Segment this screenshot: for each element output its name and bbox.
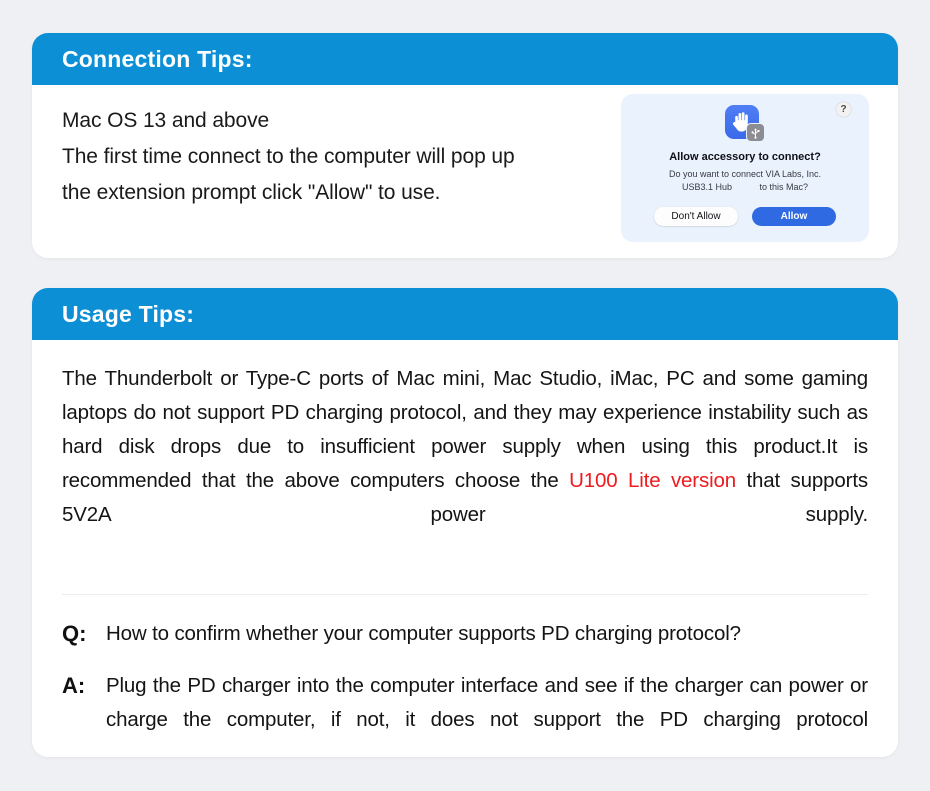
usage-tips-paragraph: The Thunderbolt or Type-C ports of Mac m… [62, 362, 868, 566]
dont-allow-button[interactable]: Don't Allow [654, 207, 738, 226]
dialog-icon-group [723, 105, 767, 145]
dialog-button-row: Don't Allow Allow [621, 207, 869, 226]
macos-permission-dialog-image: ? [621, 94, 869, 242]
faq-answer-row: A: Plug the PD charger into the computer… [62, 669, 868, 757]
usb-icon [746, 123, 765, 142]
usage-tips-card: Usage Tips: The Thunderbolt or Type-C po… [32, 288, 898, 757]
page-root: Connection Tips: Mac OS 13 and above The… [0, 0, 930, 791]
faq-question-row: Q: How to confirm whether your computer … [62, 617, 868, 651]
connection-tips-card: Connection Tips: Mac OS 13 and above The… [32, 33, 898, 258]
connection-tips-text: Mac OS 13 and above The first time conne… [62, 103, 622, 211]
dialog-subtitle-line-1: Do you want to connect VIA Labs, Inc. [669, 169, 821, 179]
connection-tips-line-1: Mac OS 13 and above [62, 103, 622, 139]
help-icon: ? [836, 102, 851, 117]
answer-text: Plug the PD charger into the computer in… [106, 669, 868, 757]
connection-tips-line-2: The first time connect to the computer w… [62, 139, 622, 175]
connection-tips-line-3: the extension prompt click "Allow" to us… [62, 175, 622, 211]
connection-tips-header: Connection Tips: [32, 33, 898, 85]
u100-lite-version-highlight: U100 Lite version [569, 469, 736, 492]
answer-label: A: [62, 669, 106, 703]
dialog-title: Allow accessory to connect? [621, 151, 869, 163]
question-text: How to confirm whether your computer sup… [106, 617, 868, 651]
usage-tips-title: Usage Tips: [62, 301, 194, 328]
usage-tips-header: Usage Tips: [32, 288, 898, 340]
question-label: Q: [62, 617, 106, 651]
dialog-subtitle-line-2: USB3.1 Hub to this Mac? [621, 181, 869, 194]
allow-button[interactable]: Allow [752, 207, 836, 226]
faq-block: Q: How to confirm whether your computer … [62, 617, 868, 757]
dialog-subtitle: Do you want to connect VIA Labs, Inc. US… [621, 168, 869, 194]
section-divider [62, 594, 868, 595]
usage-tips-body: The Thunderbolt or Type-C ports of Mac m… [32, 340, 898, 757]
connection-tips-title: Connection Tips: [62, 46, 253, 73]
connection-tips-body: Mac OS 13 and above The first time conne… [32, 85, 898, 231]
